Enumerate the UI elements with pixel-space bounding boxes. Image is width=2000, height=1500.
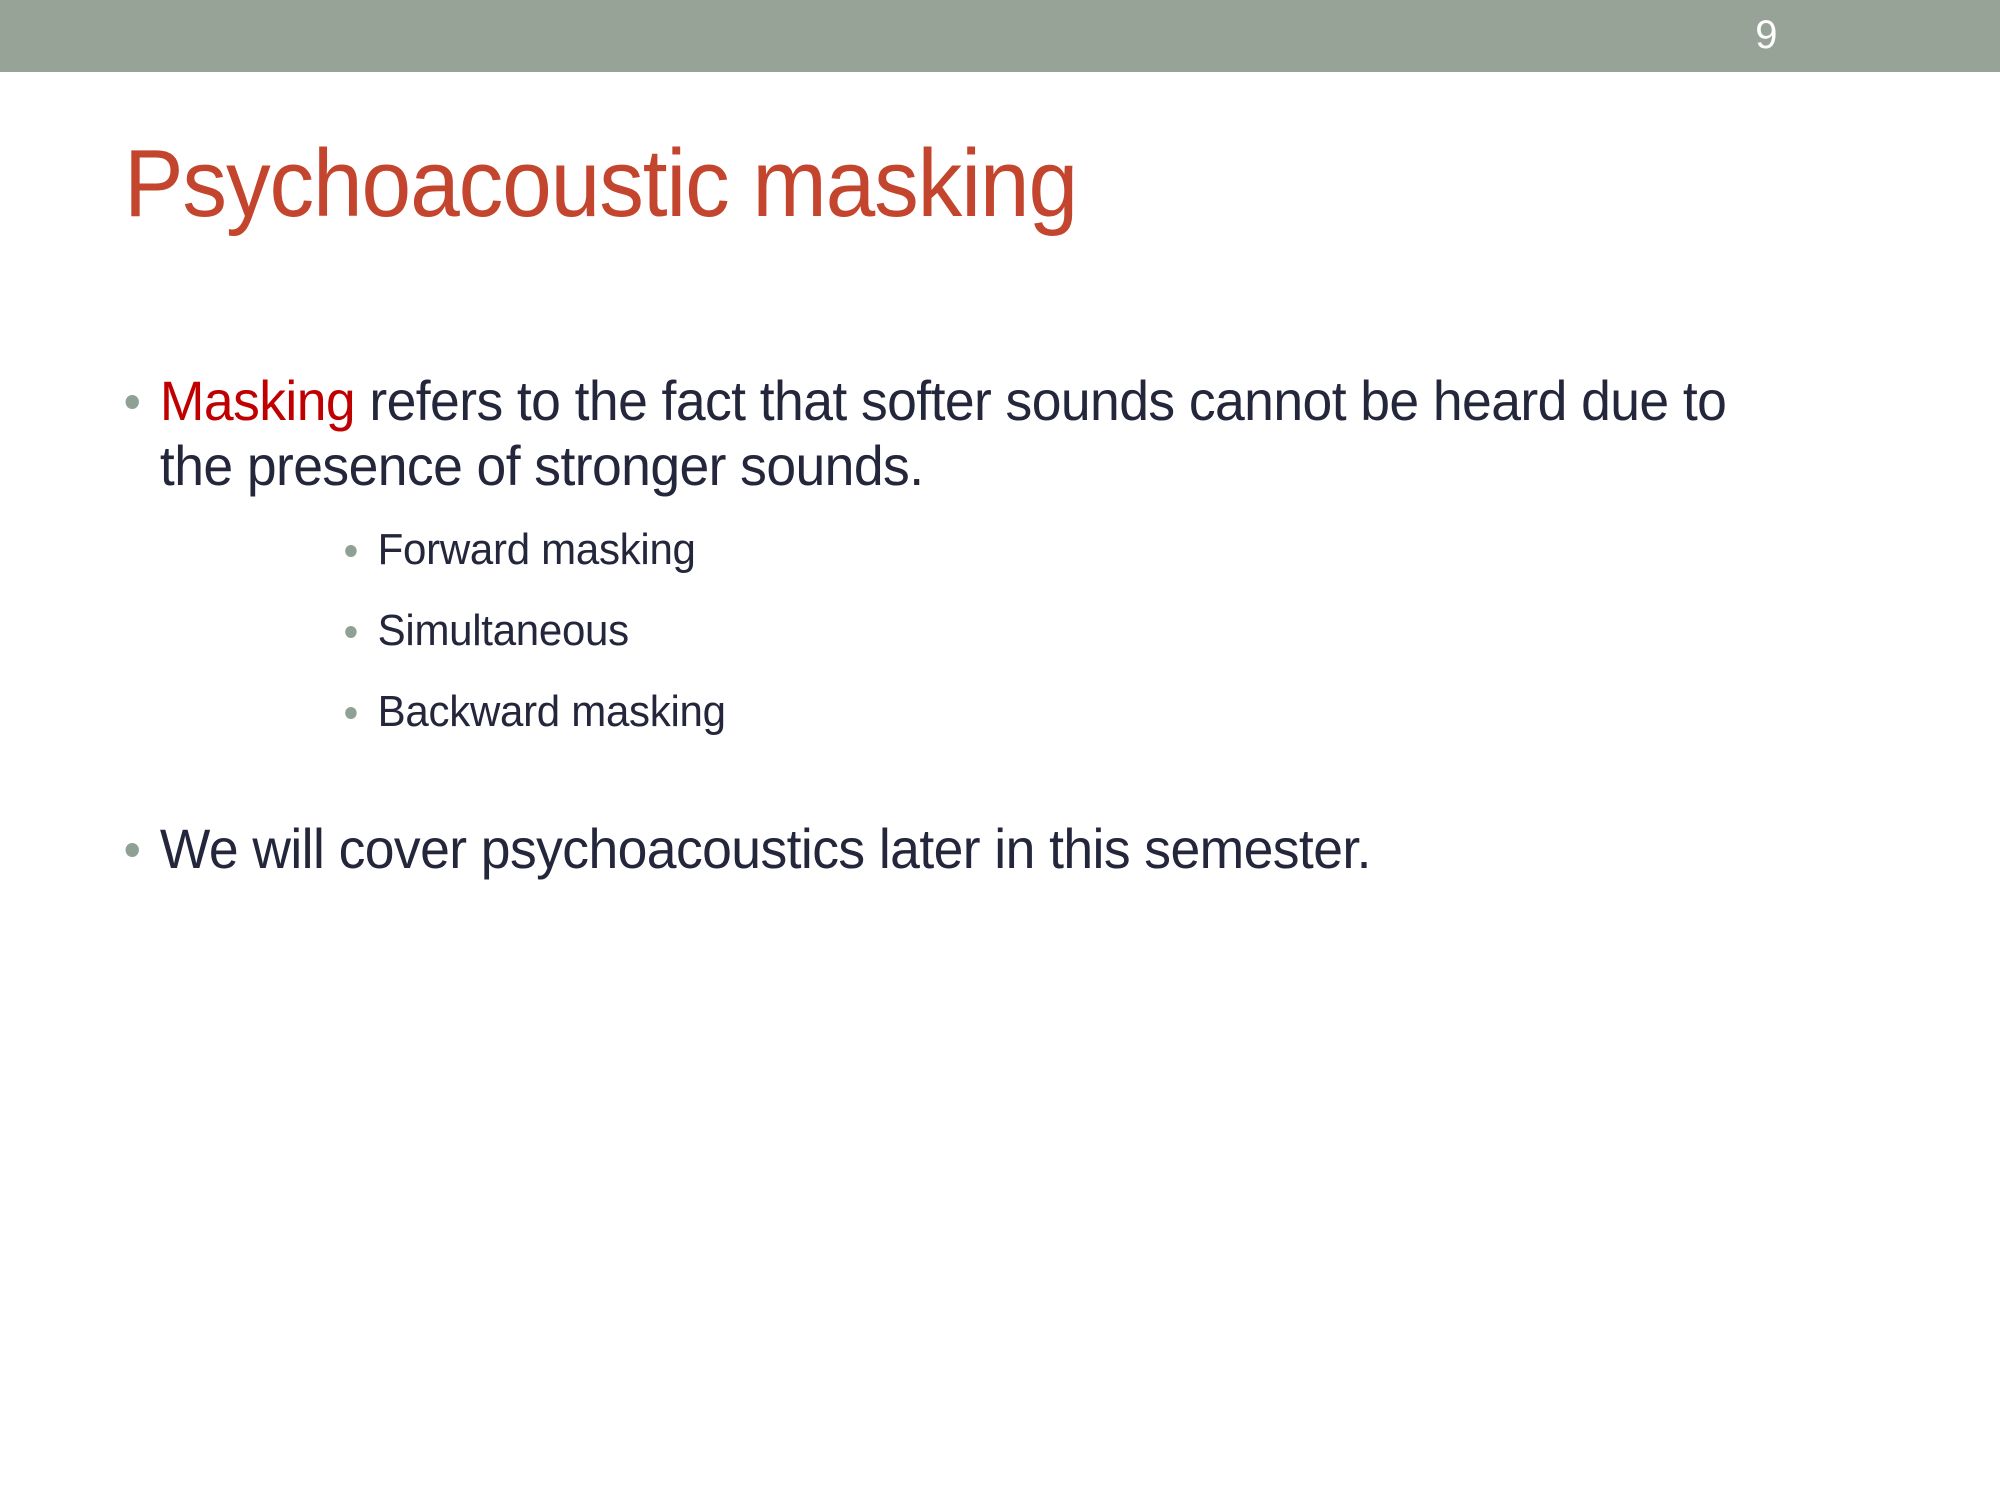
- sub-bullet-backward-masking: Backward masking: [338, 686, 1740, 738]
- slide-canvas: 9 Psychoacoustic masking Masking refers …: [0, 0, 2000, 1500]
- bullet-highlight-term: Masking: [160, 369, 355, 432]
- page-title: Psychoacoustic masking: [124, 132, 1705, 236]
- sub-bullet-marker-icon: [345, 545, 356, 557]
- bullet-item-masking: Masking refers to the fact that softer s…: [116, 368, 1740, 738]
- header-band: 9: [0, 0, 2000, 72]
- sub-bullet-simultaneous: Simultaneous: [338, 605, 1740, 657]
- bullet-spacer: [0, 738, 2000, 816]
- bullet-marker-icon: [126, 395, 139, 409]
- bullet-list-level1: Masking refers to the fact that softer s…: [0, 368, 2000, 881]
- sub-bullet-forward-masking: Forward masking: [338, 524, 1740, 576]
- bullet-list-level2: Forward masking Simultaneous Backward ma…: [160, 524, 1740, 738]
- body-content: Masking refers to the fact that softer s…: [0, 368, 2000, 881]
- bullet-text-masking: refers to the fact that softer sounds ca…: [160, 369, 1726, 497]
- sub-bullet-label: Backward masking: [378, 687, 726, 736]
- sub-bullet-label: Forward masking: [378, 525, 696, 574]
- sub-bullet-label: Simultaneous: [378, 606, 629, 655]
- sub-bullet-marker-icon: [345, 707, 356, 719]
- bullet-text-semester: We will cover psychoacoustics later in t…: [160, 817, 1371, 880]
- bullet-marker-icon: [126, 843, 139, 857]
- bullet-item-semester: We will cover psychoacoustics later in t…: [116, 816, 1740, 881]
- sub-bullet-marker-icon: [345, 626, 356, 638]
- page-number: 9: [1755, 9, 1778, 61]
